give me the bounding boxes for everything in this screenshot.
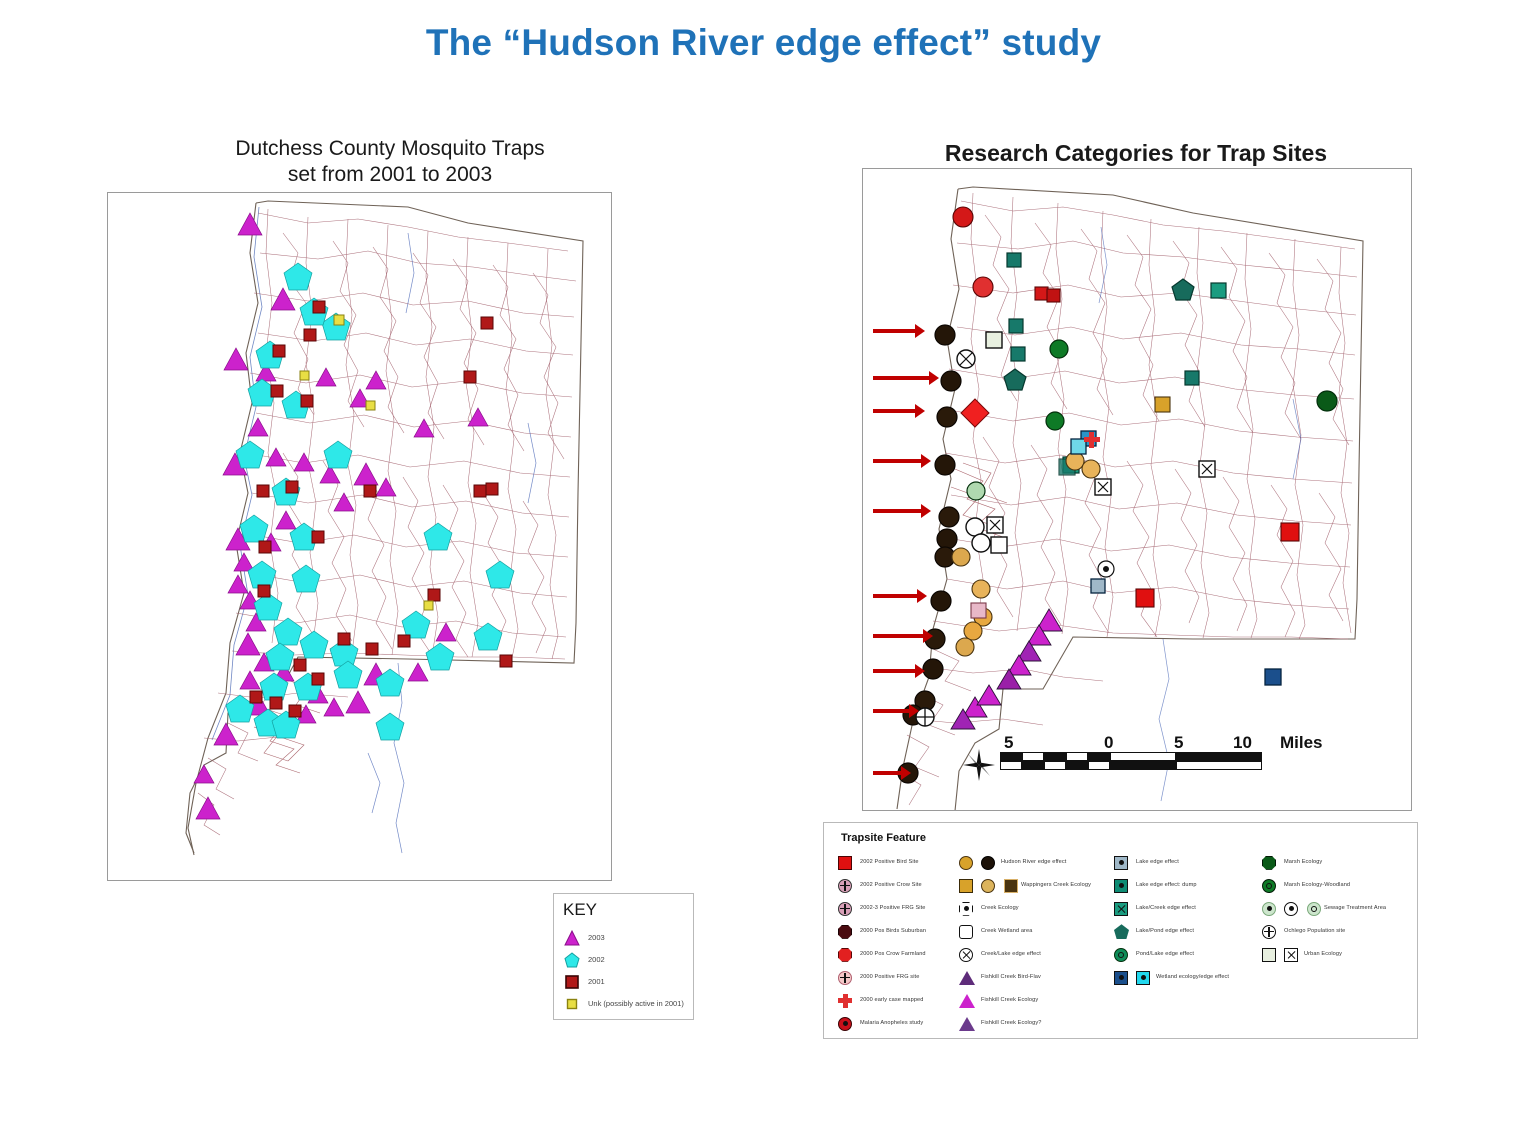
legend-item: Sewage Treatment Area	[1262, 899, 1412, 922]
legend-label: Urban Ecology	[1304, 951, 1342, 957]
lake-creek-edge-effect-icon	[1114, 900, 1132, 920]
key-label-unknown: Unk (possibly active in 2001)	[588, 999, 684, 1008]
cyan-pentagon-icon	[564, 952, 580, 968]
legend-item: Pond/Lake edge effect	[1114, 945, 1264, 968]
marsh-ecology-woodland-icon	[1262, 877, 1280, 897]
legend-item: Fishkill Creek Bird-Flav	[959, 968, 1114, 991]
legend-item: Creek Wetland area	[959, 922, 1114, 945]
legend-label: Creek/Lake edge effect	[981, 951, 1041, 957]
magenta-triangle-icon	[564, 930, 580, 946]
legend-label: Sewage Treatment Area	[1324, 905, 1386, 911]
legend-item: 2000 early case mapped	[838, 991, 958, 1014]
legend-label: Creek Ecology	[981, 905, 1019, 911]
legend-item: Fishkill Creek Ecology	[959, 991, 1114, 1014]
legend-item: 2000 Pos Crow Farmland	[838, 945, 958, 968]
scale-bar	[1000, 752, 1262, 770]
fishkill-creek-ecology-icon	[959, 992, 979, 1012]
legend-column-3: Lake edge effect Lake edge effect: dump …	[1114, 853, 1264, 991]
red-circle-dot-icon	[838, 1015, 856, 1035]
creek-wetland-area-icon	[959, 923, 977, 943]
creek-lake-edge-effect-icon	[959, 946, 977, 966]
red-octagon-icon	[838, 946, 856, 966]
scale-unit-label: Miles	[1280, 733, 1323, 753]
pointer-arrow-10	[873, 771, 903, 775]
legend-item: Lake edge effect: dump	[1114, 876, 1264, 899]
scale-bar-labels: 5 0 5 10 Miles	[980, 733, 1310, 751]
legend-label: Wetland ecology/edge effect	[1156, 974, 1229, 980]
legend-item: 2002 Positive Crow Site	[838, 876, 958, 899]
red-square-icon	[838, 854, 856, 874]
legend-label: 2000 Pos Crow Farmland	[860, 951, 926, 957]
legend-label: 2000 Positive FRG site	[860, 974, 919, 980]
red-cross-icon	[838, 992, 856, 1012]
legend-label: Lake/Pond edge effect	[1136, 928, 1194, 934]
pointer-arrow-6	[873, 594, 919, 598]
dark-red-square-icon	[564, 974, 580, 990]
legend-label: Malaria Anopheles study	[860, 1020, 923, 1026]
dark-maroon-octagon-icon	[838, 923, 856, 943]
right-map-geometry	[863, 169, 1411, 810]
legend-label: 2002-3 Positive FRG Site	[860, 905, 926, 911]
key-label-2002: 2002	[588, 955, 605, 964]
legend-item: Lake edge effect	[1114, 853, 1264, 876]
marsh-ecology-icon	[1262, 854, 1280, 874]
legend-item: Creek/Lake edge effect	[959, 945, 1114, 968]
pointer-arrow-8	[873, 669, 917, 673]
legend-label: Lake edge effect	[1136, 859, 1179, 865]
lake-pond-edge-effect-icon	[1114, 923, 1133, 943]
legend-label: Fishkill Creek Ecology?	[981, 1020, 1041, 1026]
left-map-title-line1: Dutchess County Mosquito Traps	[150, 136, 630, 162]
key-label-2001: 2001	[588, 977, 605, 986]
legend-label: Hudson River edge effect	[1001, 859, 1066, 865]
creek-ecology-icon	[959, 900, 977, 920]
legend-label: Ochlego Population site	[1284, 928, 1345, 934]
legend-item: 2000 Positive FRG site	[838, 968, 958, 991]
legend-label: Fishkill Creek Ecology	[981, 997, 1038, 1003]
pointer-arrow-3	[873, 409, 917, 413]
pink-circle-plus-icon	[838, 877, 856, 897]
key-label-2003: 2003	[588, 933, 605, 942]
pointer-arrow-9	[873, 709, 911, 713]
legend-item: 2002 Positive Bird Site	[838, 853, 958, 876]
legend-item: 2000 Pos Birds Suburban	[838, 922, 958, 945]
pond-lake-edge-effect-icon	[1114, 946, 1132, 966]
right-map-title: Research Categories for Trap Sites	[862, 139, 1410, 167]
pointer-arrow-2	[873, 376, 931, 380]
legend-column-1: 2002 Positive Bird Site 2002 Positive Cr…	[838, 853, 958, 1037]
left-map-key-box: KEY 2003 2002 2001 Unk (possibly active …	[553, 893, 694, 1020]
hudson-river-edge-effect-icon	[959, 854, 999, 874]
trapsite-feature-legend: Trapsite Feature 2002 Positive Bird Site…	[823, 822, 1418, 1039]
pointer-arrow-7	[873, 634, 925, 638]
research-categories-for-trap-sites-map[interactable]	[862, 168, 1412, 811]
lake-edge-effect-dump-icon	[1114, 877, 1132, 897]
legend-item: 2002-3 Positive FRG Site	[838, 899, 958, 922]
legend-label: Pond/Lake edge effect	[1136, 951, 1194, 957]
scale-tick-1: 0	[1104, 733, 1113, 753]
legend-label: Wappingers Creek Ecology	[1021, 882, 1091, 888]
legend-column-4: Marsh Ecology Marsh Ecology-Woodland Sew…	[1262, 853, 1412, 968]
legend-item: Marsh Ecology	[1262, 853, 1412, 876]
fishkill-creek-ecology-uncertain-icon	[959, 1015, 979, 1035]
pointer-arrow-4	[873, 459, 923, 463]
legend-label: Marsh Ecology	[1284, 859, 1322, 865]
legend-item: Fishkill Creek Ecology?	[959, 1014, 1114, 1037]
yellow-square-icon	[564, 996, 580, 1012]
scale-tick-3: 10	[1233, 733, 1252, 753]
scale-tick-0: 5	[1004, 733, 1013, 753]
legend-item: Lake/Pond edge effect	[1114, 922, 1264, 945]
north-compass-rose	[962, 748, 996, 782]
legend-label: Lake edge effect: dump	[1136, 882, 1197, 888]
legend-label: 2002 Positive Bird Site	[860, 859, 919, 865]
light-pink-circle-plus-icon	[838, 969, 856, 989]
pointer-arrow-5	[873, 509, 923, 513]
wappingers-creek-ecology-icon	[959, 877, 1022, 897]
legend-title: Trapsite Feature	[841, 832, 926, 844]
fishkill-creek-bird-flav-icon	[959, 969, 979, 989]
key-title: KEY	[563, 900, 597, 920]
legend-item: Marsh Ecology-Woodland	[1262, 876, 1412, 899]
page-title: The “Hudson River edge effect” study	[0, 22, 1527, 64]
urban-ecology-icon	[1262, 946, 1302, 966]
legend-item: Wetland ecology/edge effect	[1114, 968, 1264, 991]
left-map-geometry	[108, 193, 611, 880]
legend-label: Fishkill Creek Bird-Flav	[981, 974, 1041, 980]
pink-circle-plus-icon	[838, 900, 856, 920]
wetland-ecology-edge-effect-icon	[1114, 969, 1154, 989]
sewage-treatment-area-icon	[1262, 900, 1325, 920]
legend-column-2: Hudson River edge effect Wappingers Cree…	[959, 853, 1114, 1037]
left-map-title: Dutchess County Mosquito Traps set from …	[150, 136, 630, 188]
legend-label: Lake/Creek edge effect	[1136, 905, 1196, 911]
legend-item: Urban Ecology	[1262, 945, 1412, 968]
left-map-title-line2: set from 2001 to 2003	[150, 162, 630, 188]
dutchess-county-mosquito-traps-map[interactable]	[107, 192, 612, 881]
legend-item: Ochlego Population site	[1262, 922, 1412, 945]
legend-label: Marsh Ecology-Woodland	[1284, 882, 1350, 888]
legend-label: 2000 early case mapped	[860, 997, 923, 1003]
ochlego-population-site-icon	[1262, 923, 1280, 943]
legend-item: Malaria Anopheles study	[838, 1014, 958, 1037]
legend-item: Hudson River edge effect	[959, 853, 1114, 876]
legend-label: 2002 Positive Crow Site	[860, 882, 922, 888]
legend-item: Creek Ecology	[959, 899, 1114, 922]
legend-item: Lake/Creek edge effect	[1114, 899, 1264, 922]
pointer-arrow-1	[873, 329, 917, 333]
scale-tick-2: 5	[1174, 733, 1183, 753]
legend-label: Creek Wetland area	[981, 928, 1032, 934]
legend-label: 2000 Pos Birds Suburban	[860, 928, 926, 934]
lake-edge-effect-icon	[1114, 854, 1132, 874]
legend-item: Wappingers Creek Ecology	[959, 876, 1114, 899]
